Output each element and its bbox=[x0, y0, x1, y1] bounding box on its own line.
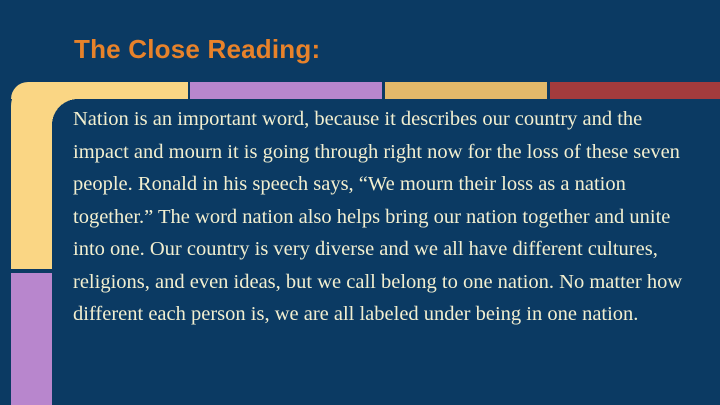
decor-red-segment bbox=[550, 82, 720, 99]
decor-yellow-vertical-bar bbox=[11, 82, 52, 269]
decor-purple-segment bbox=[190, 82, 382, 99]
decor-purple-vertical-bar bbox=[11, 273, 52, 405]
slide-canvas: The Close Reading: Nation is an importan… bbox=[0, 0, 720, 405]
decor-yellow-horizontal-bar bbox=[11, 82, 188, 99]
body-paragraph: Nation is an important word, because it … bbox=[73, 103, 687, 331]
page-title: The Close Reading: bbox=[74, 35, 320, 64]
decor-gold-segment bbox=[385, 82, 547, 99]
